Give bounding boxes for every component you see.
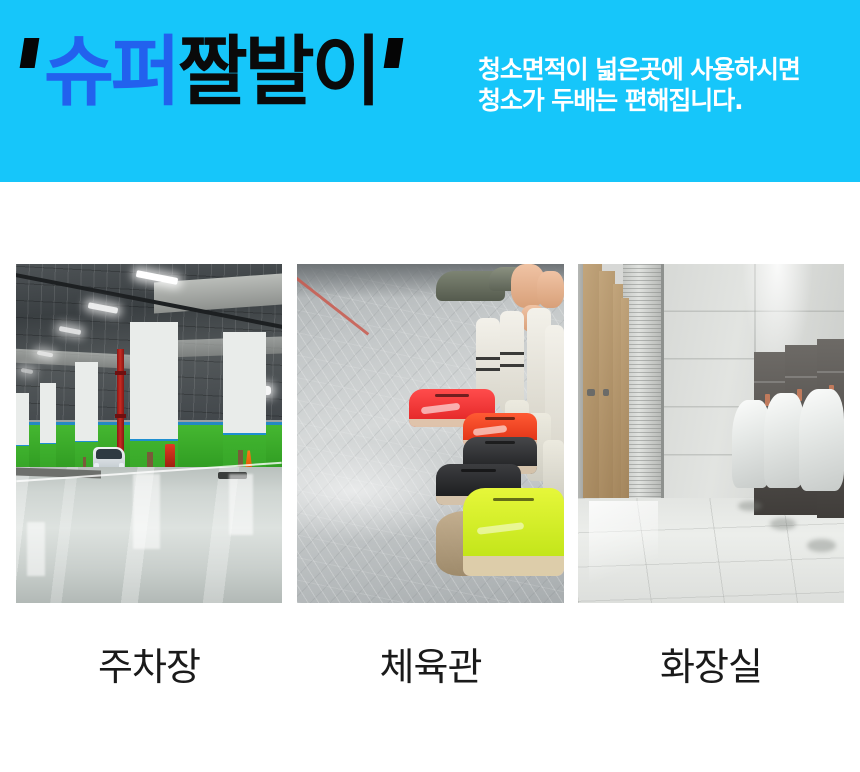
photo-parking-garage: [16, 264, 282, 603]
caption-parking: 주차장: [16, 644, 282, 690]
title-blue-part: 슈퍼: [44, 27, 178, 116]
subtitle-line-1: 청소면적이 넓은곳에 사용하시면: [478, 54, 800, 85]
title-black-part: 짤발이: [178, 27, 379, 116]
header-banner: 슈퍼짤발이 청소면적이 넓은곳에 사용하시면 청소가 두배는 편해집니다.: [0, 0, 860, 182]
title-text-group: 슈퍼짤발이: [44, 34, 379, 110]
shutter-slats: [623, 264, 663, 498]
leg-skin: [537, 271, 564, 308]
caption-restroom: 화장실: [578, 644, 844, 690]
photo-restroom: [578, 264, 844, 603]
caption-gymnasium: 체육관: [297, 644, 564, 690]
fire-extinguisher: [165, 444, 175, 468]
urinal-shadow: [770, 518, 797, 530]
urinal: [799, 389, 844, 491]
product-title: 슈퍼짤발이: [22, 34, 401, 134]
floor-reflection: [133, 474, 160, 549]
floor-reflection: [589, 501, 658, 596]
floor-reflection: [229, 474, 253, 535]
subtitle-line-2: 청소가 두배는 편해집니다.: [478, 85, 800, 116]
gallery-item-gymnasium: [297, 264, 564, 603]
floor-reflection: [27, 522, 46, 576]
quote-open-icon: [20, 38, 40, 68]
stall-door: [621, 298, 629, 532]
white-sock: [500, 311, 524, 413]
shutter-frame: [661, 264, 664, 498]
neon-futsal-shoe: [463, 488, 564, 576]
urinal-shadow: [807, 539, 836, 553]
photo-gymnasium: [297, 264, 564, 603]
photo-gallery: [0, 264, 860, 604]
banner-content: 슈퍼짤발이 청소면적이 넓은곳에 사용하시면 청소가 두배는 편해집니다.: [0, 0, 860, 182]
subtitle: 청소면적이 넓은곳에 사용하시면 청소가 두배는 편해집니다.: [478, 54, 800, 116]
gallery-item-parking: [16, 264, 282, 603]
gallery-item-restroom: [578, 264, 844, 603]
quote-close-icon: [383, 38, 403, 68]
